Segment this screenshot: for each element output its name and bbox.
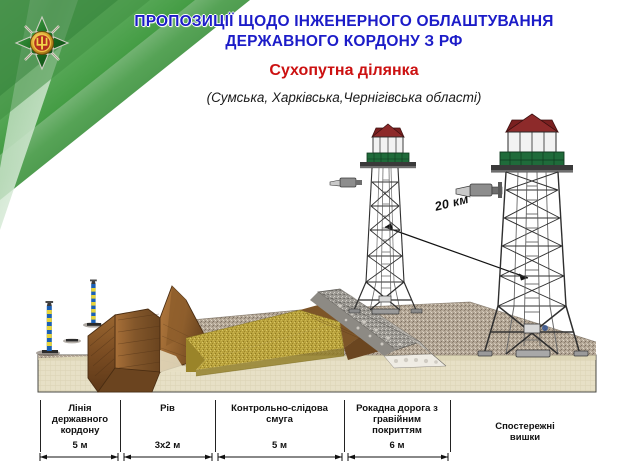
distance-line bbox=[385, 223, 528, 281]
border-marker-post-front bbox=[36, 301, 60, 356]
border-infrastructure-diagram bbox=[0, 110, 620, 400]
legend-cell-border-line: Лініядержавногокордону 5 м bbox=[40, 400, 120, 452]
legend-cell-towers: Спостережнівишки bbox=[450, 400, 600, 452]
legend-table: Лініядержавногокордону 5 м Рів 3х2 м Кон… bbox=[0, 400, 620, 465]
legend-cell-gravel-road: Рокадна дорога згравійнимпокриттям 6 м bbox=[344, 400, 450, 452]
legend-dimension: 5 м bbox=[215, 440, 344, 451]
legend-label: Спостережнівишки bbox=[450, 421, 600, 443]
searchlight-far bbox=[330, 178, 362, 187]
regions-line: (Сумська, Харківська,Чернігівська област… bbox=[84, 90, 604, 105]
legend-dimension: 3х2 м bbox=[120, 440, 215, 451]
border-marker-post-back bbox=[63, 339, 81, 344]
legend-label: Рокадна дорога згравійнимпокриттям bbox=[344, 403, 450, 437]
observation-tower-far bbox=[330, 124, 422, 314]
page-title: ПРОПОЗИЦІЇ ЩОДО ІНЖЕНЕРНОГО ОБЛАШТУВАННЯ… bbox=[84, 12, 604, 52]
legend-dimension: 5 м bbox=[40, 440, 120, 451]
legend-label: Контрольно-слідовасмуга bbox=[215, 403, 344, 425]
subtitle: Сухопутна ділянка bbox=[84, 62, 604, 80]
legend-label: Рів bbox=[120, 403, 215, 414]
legend-cell-ditch: Рів 3х2 м bbox=[120, 400, 215, 452]
page-title-line1: ПРОПОЗИЦІЇ ЩОДО ІНЖЕНЕРНОГО ОБЛАШТУВАННЯ bbox=[134, 13, 553, 30]
slide-root: ПРОПОЗИЦІЇ ЩОДО ІНЖЕНЕРНОГО ОБЛАШТУВАННЯ… bbox=[0, 0, 620, 465]
page-title-line2: ДЕРЖАВНОГО КОРДОНУ З РФ bbox=[84, 32, 604, 52]
dimension-arrow-bar bbox=[0, 452, 620, 465]
legend-dimension: 6 м bbox=[344, 440, 450, 451]
ukrainian-border-guard-cross-emblem bbox=[14, 15, 70, 71]
legend-label: Лініядержавногокордону bbox=[40, 403, 120, 437]
legend-cell-control-strip: Контрольно-слідовасмуга 5 м bbox=[215, 400, 344, 452]
border-marker-post-mid bbox=[83, 280, 103, 328]
